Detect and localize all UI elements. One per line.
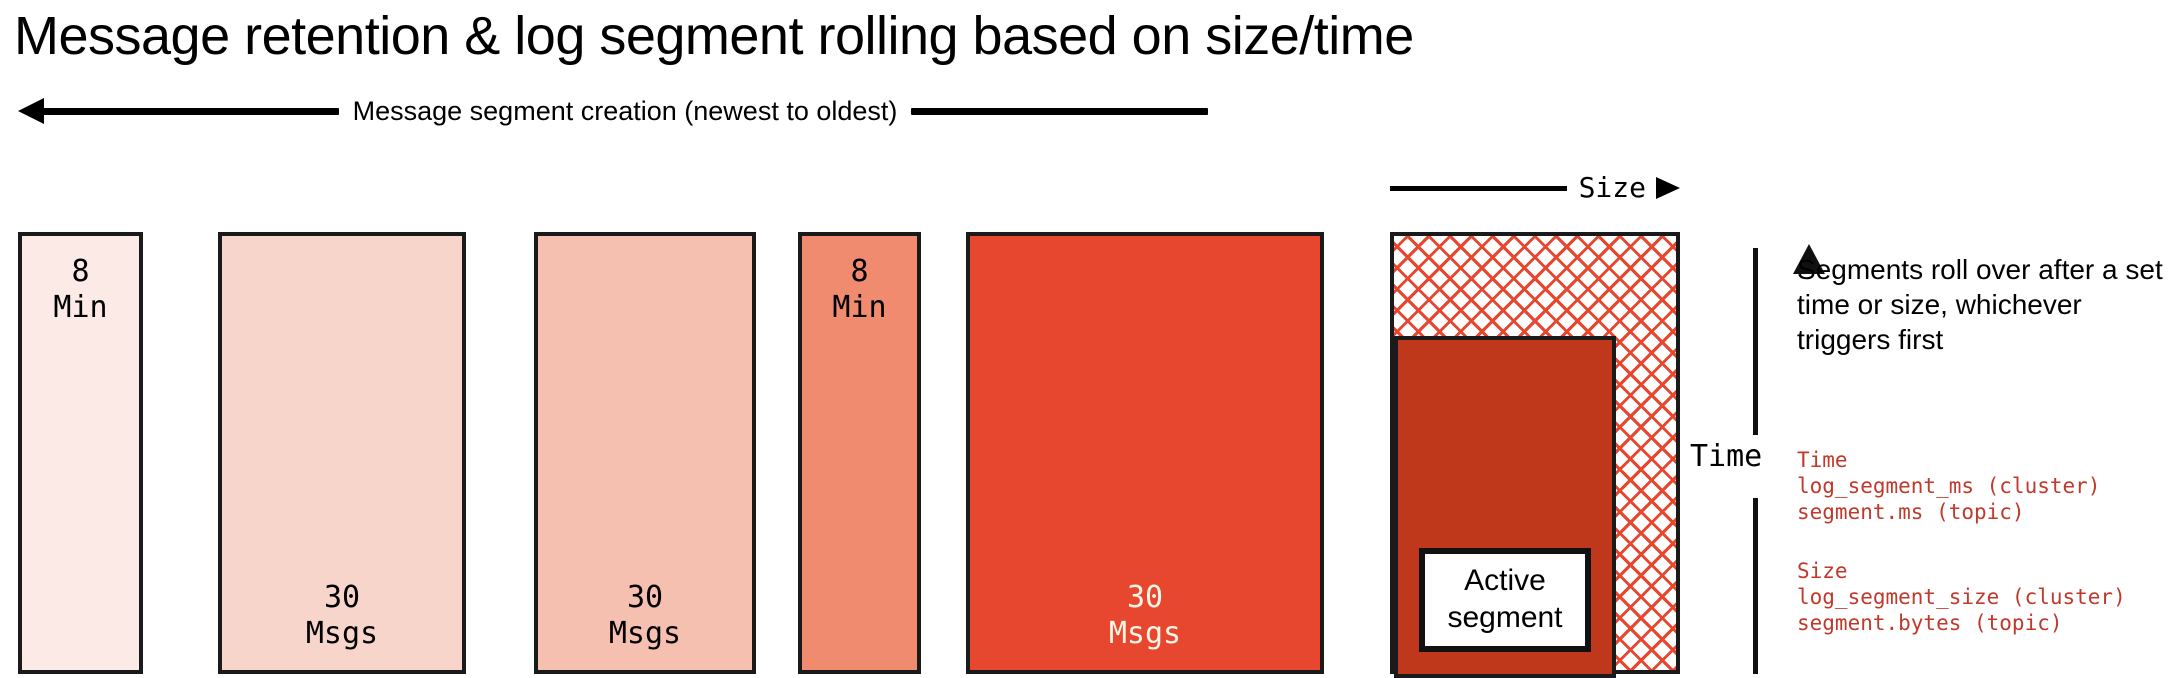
segment-bar-3[interactable]: 30 Msgs bbox=[534, 232, 756, 674]
page-title: Message retention & log segment rolling … bbox=[14, 6, 1414, 66]
time-config-block: Time log_segment_ms (cluster) segment.ms… bbox=[1797, 447, 2171, 525]
active-segment-block[interactable]: Active segment bbox=[1394, 336, 1616, 678]
active-segment-label-box: Active segment bbox=[1419, 548, 1591, 652]
segment-bar-1-top-label: 8 Min bbox=[53, 254, 107, 326]
segment-bar-5[interactable]: 30 Msgs bbox=[966, 232, 1324, 674]
segment-bar-1[interactable]: 8 Min bbox=[18, 232, 143, 674]
size-axis-line bbox=[1390, 186, 1567, 191]
arrow-right-icon bbox=[1656, 177, 1680, 199]
creation-direction-axis: Message segment creation (newest to olde… bbox=[18, 96, 1208, 126]
arrow-left-icon bbox=[18, 98, 44, 124]
segment-bar-2[interactable]: 30 Msgs bbox=[218, 232, 466, 674]
size-axis: Size bbox=[1390, 175, 1680, 201]
segment-bar-4[interactable]: 8 Min bbox=[798, 232, 921, 674]
active-segment-column[interactable]: Active segment bbox=[1390, 232, 1680, 674]
size-axis-label: Size bbox=[1567, 175, 1658, 201]
segment-bar-5-bottom-label: 30 Msgs bbox=[1109, 580, 1181, 652]
axis-line-right bbox=[911, 108, 1208, 115]
time-axis-line-lower bbox=[1753, 498, 1758, 674]
segment-bar-2-bottom-label: 30 Msgs bbox=[306, 580, 378, 652]
time-axis-label: Time bbox=[1688, 435, 1764, 479]
notes-paragraph: Segments roll over after a set time or s… bbox=[1797, 252, 2171, 357]
creation-axis-label: Message segment creation (newest to olde… bbox=[339, 96, 912, 126]
segment-bar-3-bottom-label: 30 Msgs bbox=[609, 580, 681, 652]
axis-line-left bbox=[42, 108, 339, 115]
segment-bar-4-top-label: 8 Min bbox=[832, 254, 886, 326]
time-axis-line-upper bbox=[1753, 248, 1758, 436]
size-config-block: Size log_segment_size (cluster) segment.… bbox=[1797, 558, 2171, 636]
